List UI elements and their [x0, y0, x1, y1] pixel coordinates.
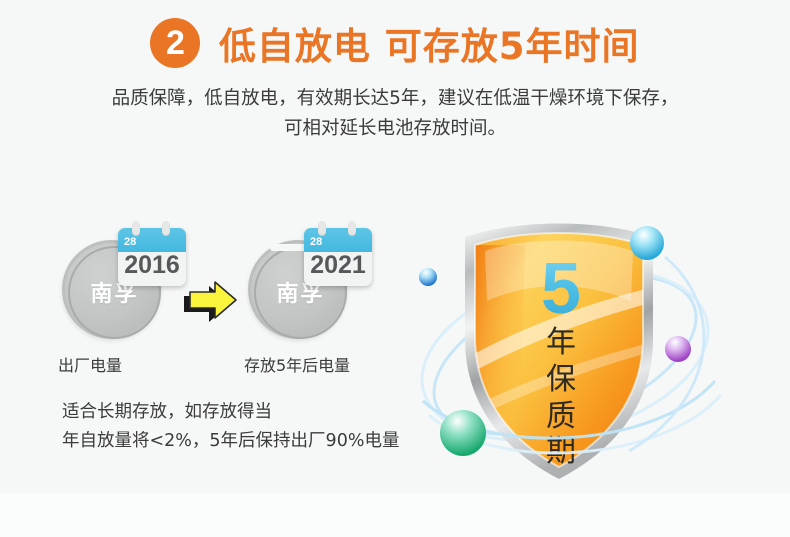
sphere-blue — [419, 268, 437, 286]
description-line-1: 品质保障，低自放电，有效期长达5年，建议在低温干燥环境下保存， — [0, 84, 790, 114]
storage-note-line-1: 适合长期存放，如存放得当 — [62, 398, 399, 427]
step-number-badge: 2 — [150, 18, 200, 68]
product-feature-banner: 2 低自放电 可存放5年时间 品质保障，低自放电，有效期长达5年，建议在低温干燥… — [0, 0, 790, 537]
description-text: 品质保障，低自放电，有效期长达5年，建议在低温干燥环境下保存， 可相对延长电池存… — [0, 84, 790, 144]
calendar-ring-left — [318, 221, 326, 236]
banner-header: 2 低自放电 可存放5年时间 — [0, 16, 790, 70]
svg-text:质: 质 — [546, 399, 576, 434]
calendar-icon-2021: 28 2021 — [304, 228, 372, 286]
calendar-ring-right — [162, 221, 170, 236]
storage-note-line-2: 年自放量将<2%，5年后保持出厂90%电量 — [62, 427, 399, 456]
bottom-band — [0, 493, 790, 537]
calendar-day: 28 — [310, 236, 322, 248]
svg-text:保: 保 — [546, 362, 576, 397]
after-caption: 存放5年后电量 — [244, 352, 394, 376]
sphere-green — [440, 410, 486, 456]
calendar-day: 28 — [124, 236, 136, 248]
battery-cell-before: 南孚 28 2016 — [62, 240, 167, 345]
page-title: 低自放电 可存放5年时间 — [219, 16, 640, 70]
calendar-icon-2016: 28 2016 — [118, 228, 186, 286]
calendar-year: 2016 — [118, 251, 186, 280]
comparison-after: 南孚 28 2021 存放5年后电量 — [248, 240, 408, 345]
calendar-year: 2021 — [304, 251, 372, 280]
sphere-purple — [665, 336, 691, 362]
before-caption: 出厂电量 — [58, 352, 208, 376]
calendar-ring-left — [132, 221, 140, 236]
calendar-ring-right — [348, 221, 356, 236]
arrow-right-icon — [184, 278, 246, 322]
description-line-2: 可相对延长电池存放时间。 — [0, 114, 790, 144]
storage-note: 适合长期存放，如存放得当 年自放量将<2%，5年后保持出厂90%电量 — [62, 398, 399, 456]
svg-text:年: 年 — [546, 325, 576, 360]
battery-cell-after: 南孚 28 2021 — [248, 240, 353, 345]
sphere-cyan — [630, 226, 664, 260]
warranty-shield-graphic: 5 年 保 质 期 — [415, 205, 735, 495]
shield-number: 5 — [541, 249, 581, 329]
